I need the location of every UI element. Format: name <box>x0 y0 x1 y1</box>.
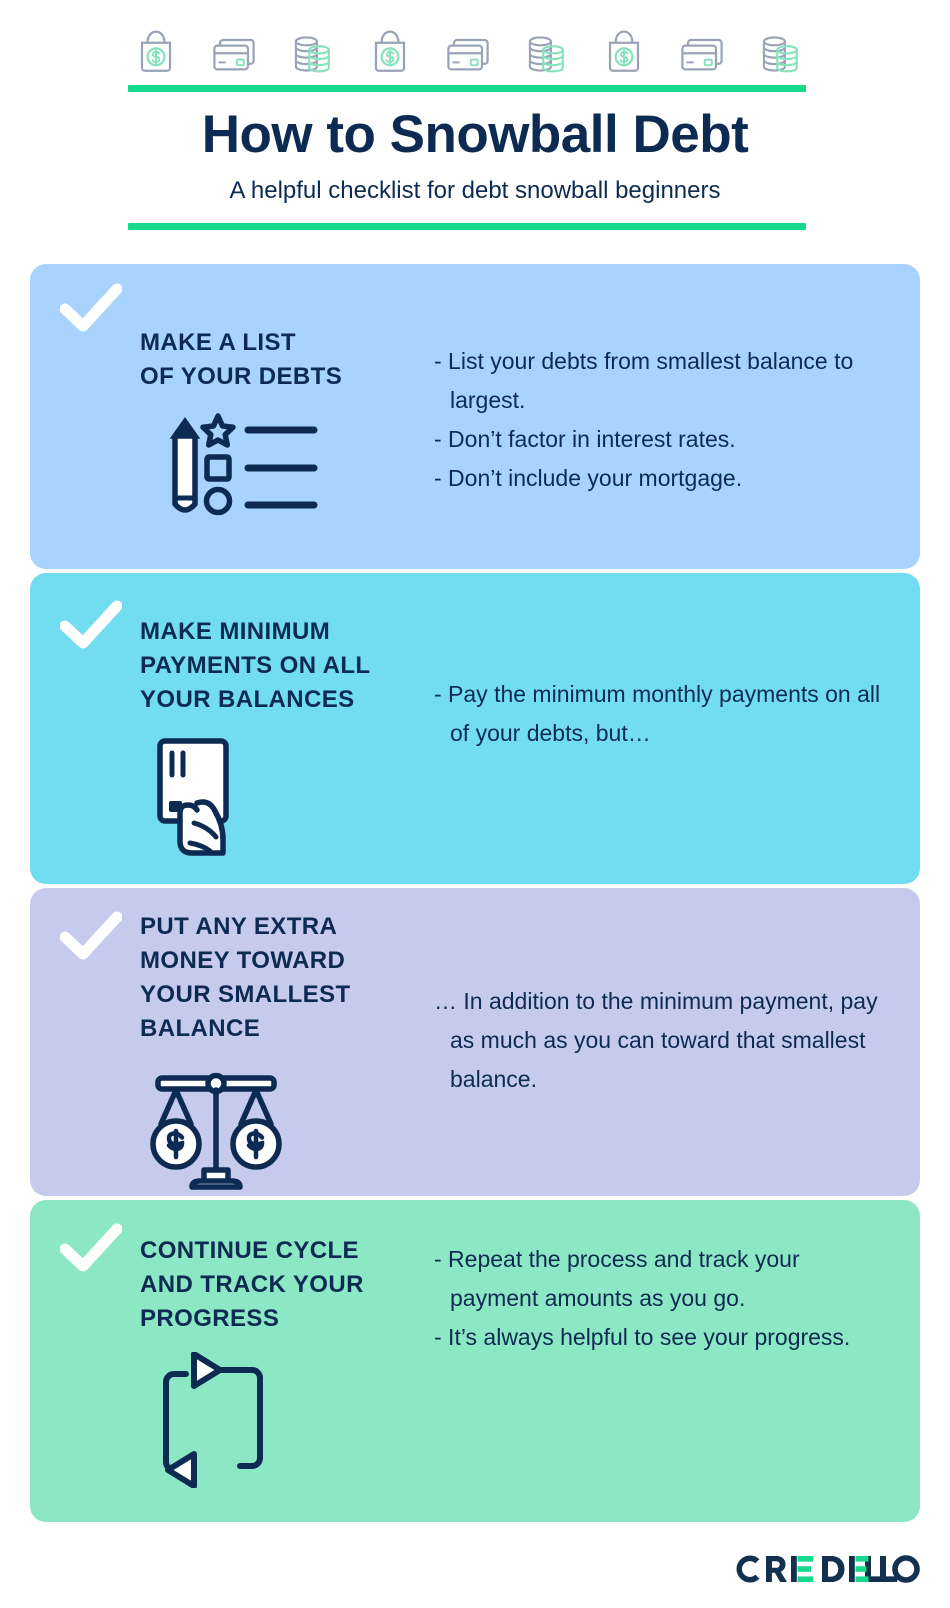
card-heading: MAKE A LISTOF YOUR DEBTS <box>140 326 440 394</box>
cycle-arrows-icon <box>148 1352 284 1488</box>
coin-stack-icon <box>284 26 340 82</box>
card-heading: CONTINUE CYCLEAND TRACK YOURPROGRESS <box>140 1234 440 1336</box>
checkmark-icon <box>60 1222 122 1274</box>
header-icon-strip <box>128 24 808 84</box>
card-body: - List your debts from smallest balance … <box>434 342 889 498</box>
card-body: … In addition to the minimum payment, pa… <box>434 982 889 1099</box>
card-body: - Pay the minimum monthly payments on al… <box>434 675 889 753</box>
page-subtitle: A helpful checklist for debt snowball be… <box>0 176 950 206</box>
coin-stack-icon <box>518 26 574 82</box>
card-bullet: - List your debts from smallest balance … <box>434 342 889 420</box>
hand-credit-card-icon <box>152 731 282 861</box>
card-bullet: - Don’t factor in interest rates. <box>434 420 889 459</box>
checklist-card: CONTINUE CYCLEAND TRACK YOURPROGRESS - R… <box>30 1200 920 1522</box>
card-heading: PUT ANY EXTRAMONEY TOWARDYOUR SMALLESTBA… <box>140 910 440 1046</box>
card-heading: MAKE MINIMUMPAYMENTS ON ALLYOUR BALANCES <box>140 615 440 717</box>
balance-scale-icon <box>148 1066 284 1192</box>
card-bullet: - Don’t include your mortgage. <box>434 459 889 498</box>
credit-cards-icon <box>440 26 496 82</box>
checklist-card: PUT ANY EXTRAMONEY TOWARDYOUR SMALLESTBA… <box>30 888 920 1196</box>
infographic-page: How to Snowball Debt A helpful checklist… <box>0 0 950 1608</box>
checkmark-icon <box>60 282 122 334</box>
coin-stack-icon <box>752 26 808 82</box>
card-body: - Repeat the process and track your paym… <box>434 1240 889 1357</box>
checkmark-icon <box>60 910 122 962</box>
credello-wordmark-icon <box>734 1554 920 1584</box>
money-bag-icon <box>362 26 418 82</box>
checklist-card: MAKE A LISTOF YOUR DEBTS - List your deb… <box>30 264 920 569</box>
money-bag-icon <box>596 26 652 82</box>
checklist-card: MAKE MINIMUMPAYMENTS ON ALLYOUR BALANCES… <box>30 573 920 884</box>
money-bag-icon <box>128 26 184 82</box>
pencil-checklist-icon <box>162 412 322 522</box>
divider-rule-bottom <box>128 223 806 230</box>
credello-logo <box>734 1552 920 1586</box>
card-bullet: - It’s always helpful to see your progre… <box>434 1318 889 1357</box>
divider-rule-top <box>128 85 806 92</box>
checkmark-icon <box>60 599 122 651</box>
credit-cards-icon <box>674 26 730 82</box>
page-title: How to Snowball Debt <box>0 104 950 166</box>
card-bullet: … In addition to the minimum payment, pa… <box>434 982 889 1099</box>
card-bullet: - Repeat the process and track your paym… <box>434 1240 889 1318</box>
card-bullet: - Pay the minimum monthly payments on al… <box>434 675 889 753</box>
credit-cards-icon <box>206 26 262 82</box>
